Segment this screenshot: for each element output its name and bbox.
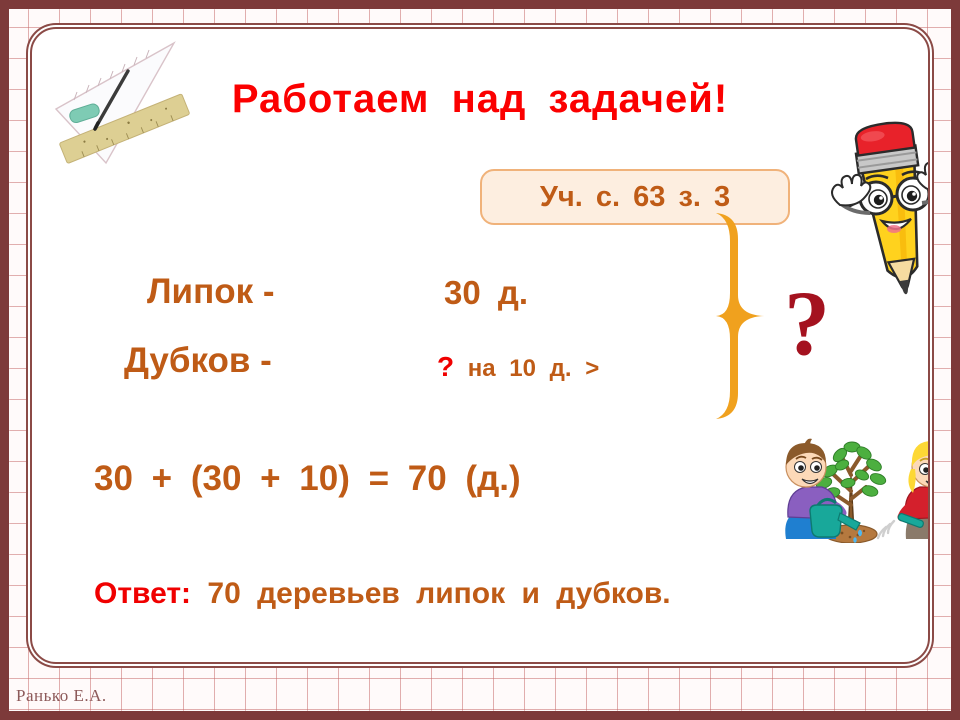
author-watermark: Ранько Е.А. (16, 686, 107, 706)
children-planting-tree-icon (748, 421, 930, 543)
unknown-question-mark-small: ? (437, 351, 454, 382)
condition-label-lindens: Липок - (147, 272, 275, 312)
grouping-brace-icon (708, 211, 774, 421)
condition-label-oaks: Дубков - (124, 341, 272, 381)
condition-value-lindens: 30 д. (444, 274, 528, 312)
answer-text: 70 деревьев липок и дубков. (207, 577, 670, 610)
textbook-reference-label: Уч. с. 63 з. 3 (540, 181, 730, 214)
slide-root: Ранько Е.А. (0, 0, 960, 720)
answer-line: Ответ: 70 деревьев липок и дубков. (94, 577, 671, 611)
condition-value-oaks: ? на 10 д. > (437, 351, 599, 383)
solution-equation: 30 + (30 + 10) = 70 (д.) (94, 459, 521, 499)
unknown-question-mark-large: ? (784, 277, 830, 369)
page-title: Работаем над задачей! (32, 77, 928, 122)
content-panel: Работаем над задачей! Уч. с. 63 з. 3 (30, 27, 930, 664)
condition-comparison-text: на 10 д. > (468, 355, 599, 382)
answer-label: Ответ: (94, 577, 191, 610)
